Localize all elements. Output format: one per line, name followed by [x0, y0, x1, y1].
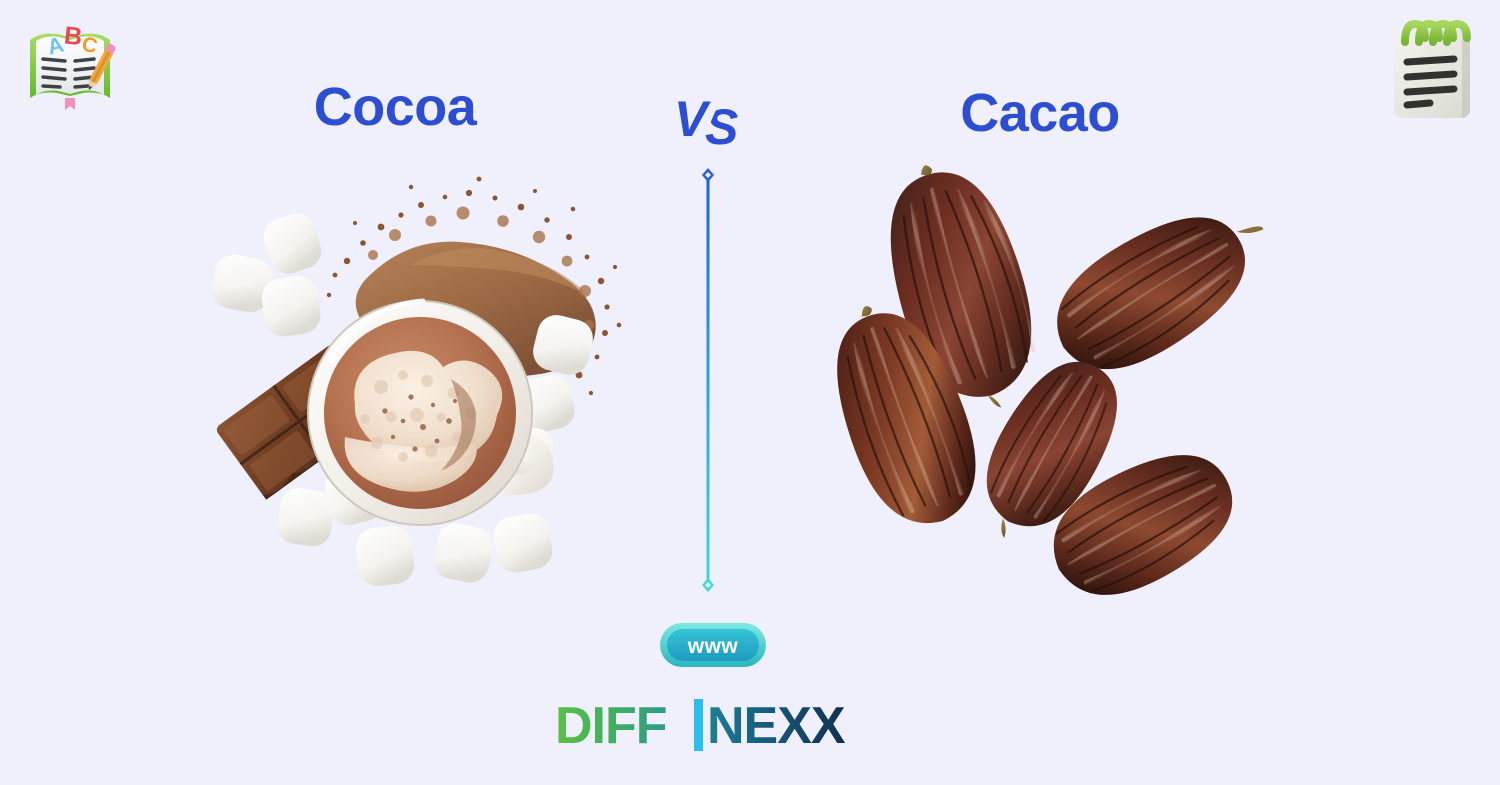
- page-title-left: Cocoa: [150, 76, 640, 138]
- www-badge-icon: www: [658, 619, 768, 671]
- spiral-notepad-icon: [1386, 12, 1486, 124]
- vs-separator-icon: V S: [668, 78, 752, 160]
- brand-logo-divider: [694, 699, 703, 751]
- www-badge-label: www: [687, 635, 739, 658]
- page-title-right: Cacao: [790, 82, 1290, 144]
- brand-logo-part-one: DIFF: [555, 697, 667, 755]
- open-book-abc-icon: A B C: [18, 14, 122, 112]
- brand-logo-part-two: NEXX: [707, 697, 846, 755]
- vertical-divider: [696, 166, 720, 594]
- brand-logo[interactable]: DIFF NEXX: [555, 695, 885, 759]
- svg-text:S: S: [705, 99, 738, 155]
- poster-canvas: A B C: [0, 0, 1500, 785]
- cacao-pod: [1034, 176, 1265, 395]
- product-image-cacao: [825, 150, 1265, 610]
- divider-top-marker: [702, 168, 714, 182]
- product-image-cocoa: [205, 165, 655, 610]
- divider-bottom-marker: [702, 578, 714, 592]
